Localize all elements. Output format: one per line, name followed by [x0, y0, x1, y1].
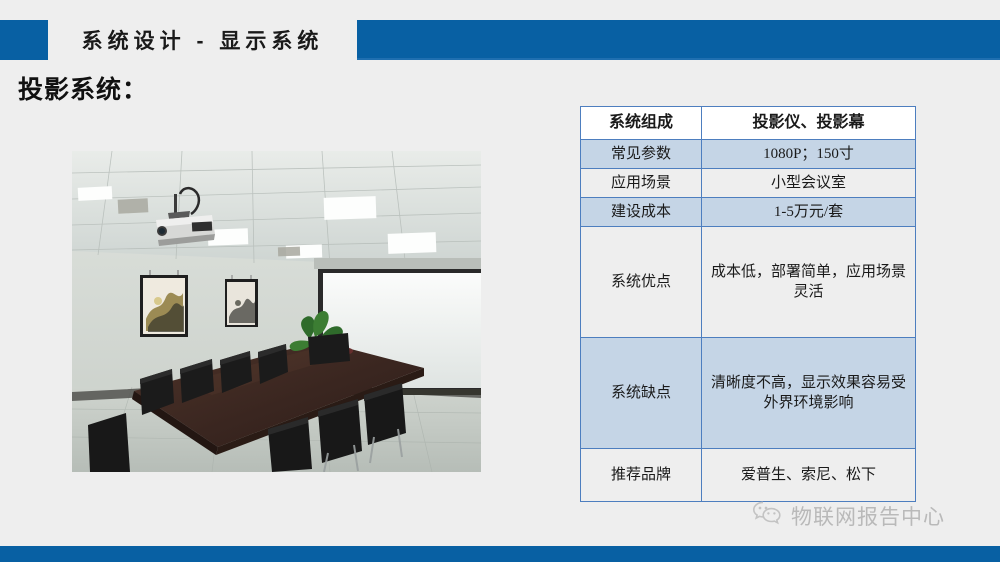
table-row: 常见参数 1080P；150寸 [581, 140, 916, 169]
table-header-cell-component: 系统组成 [581, 107, 702, 140]
table-row: 推荐品牌 爱普生、索尼、松下 [581, 449, 916, 502]
row-label-cost: 建设成本 [581, 198, 702, 227]
header-left-square [0, 20, 48, 60]
row-label-brands: 推荐品牌 [581, 449, 702, 502]
wechat-icon [752, 500, 782, 531]
section-heading: 投影系统： [18, 70, 148, 106]
row-label-advantages: 系统优点 [581, 227, 702, 338]
row-label-scenario: 应用场景 [581, 169, 702, 198]
watermark: 物联网报告中心 [752, 500, 945, 531]
table-row: 建设成本 1-5万元/套 [581, 198, 916, 227]
row-value-scenario: 小型会议室 [702, 169, 916, 198]
table-header-cell-value: 投影仪、投影幕 [702, 107, 916, 140]
row-label-disadvantages: 系统缺点 [581, 338, 702, 449]
slide-title-plate: 系统设计 - 显示系统 [48, 18, 357, 62]
table-header-row: 系统组成 投影仪、投影幕 [581, 107, 916, 140]
page-title: 系统设计 - 显示系统 [82, 25, 324, 55]
row-label-common-params: 常见参数 [581, 140, 702, 169]
row-value-disadvantages: 清晰度不高，显示效果容易受外界环境影响 [702, 338, 916, 449]
row-value-brands: 爱普生、索尼、松下 [702, 449, 916, 502]
conference-room-projector-photo [72, 151, 481, 472]
watermark-text: 物联网报告中心 [791, 501, 945, 531]
footer-accent-bar [0, 546, 1000, 562]
table-row: 应用场景 小型会议室 [581, 169, 916, 198]
table-row: 系统优点 成本低，部署简单，应用场景灵活 [581, 227, 916, 338]
slide-canvas: 系统设计 - 显示系统 投影系统： [0, 0, 1000, 562]
table-row: 系统缺点 清晰度不高，显示效果容易受外界环境影响 [581, 338, 916, 449]
photo-illustration [72, 151, 481, 472]
row-value-advantages: 成本低，部署简单，应用场景灵活 [702, 227, 916, 338]
row-value-common-params: 1080P；150寸 [702, 140, 916, 169]
spec-table: 系统组成 投影仪、投影幕 常见参数 1080P；150寸 应用场景 小型会议室 … [580, 106, 916, 502]
row-value-cost: 1-5万元/套 [702, 198, 916, 227]
